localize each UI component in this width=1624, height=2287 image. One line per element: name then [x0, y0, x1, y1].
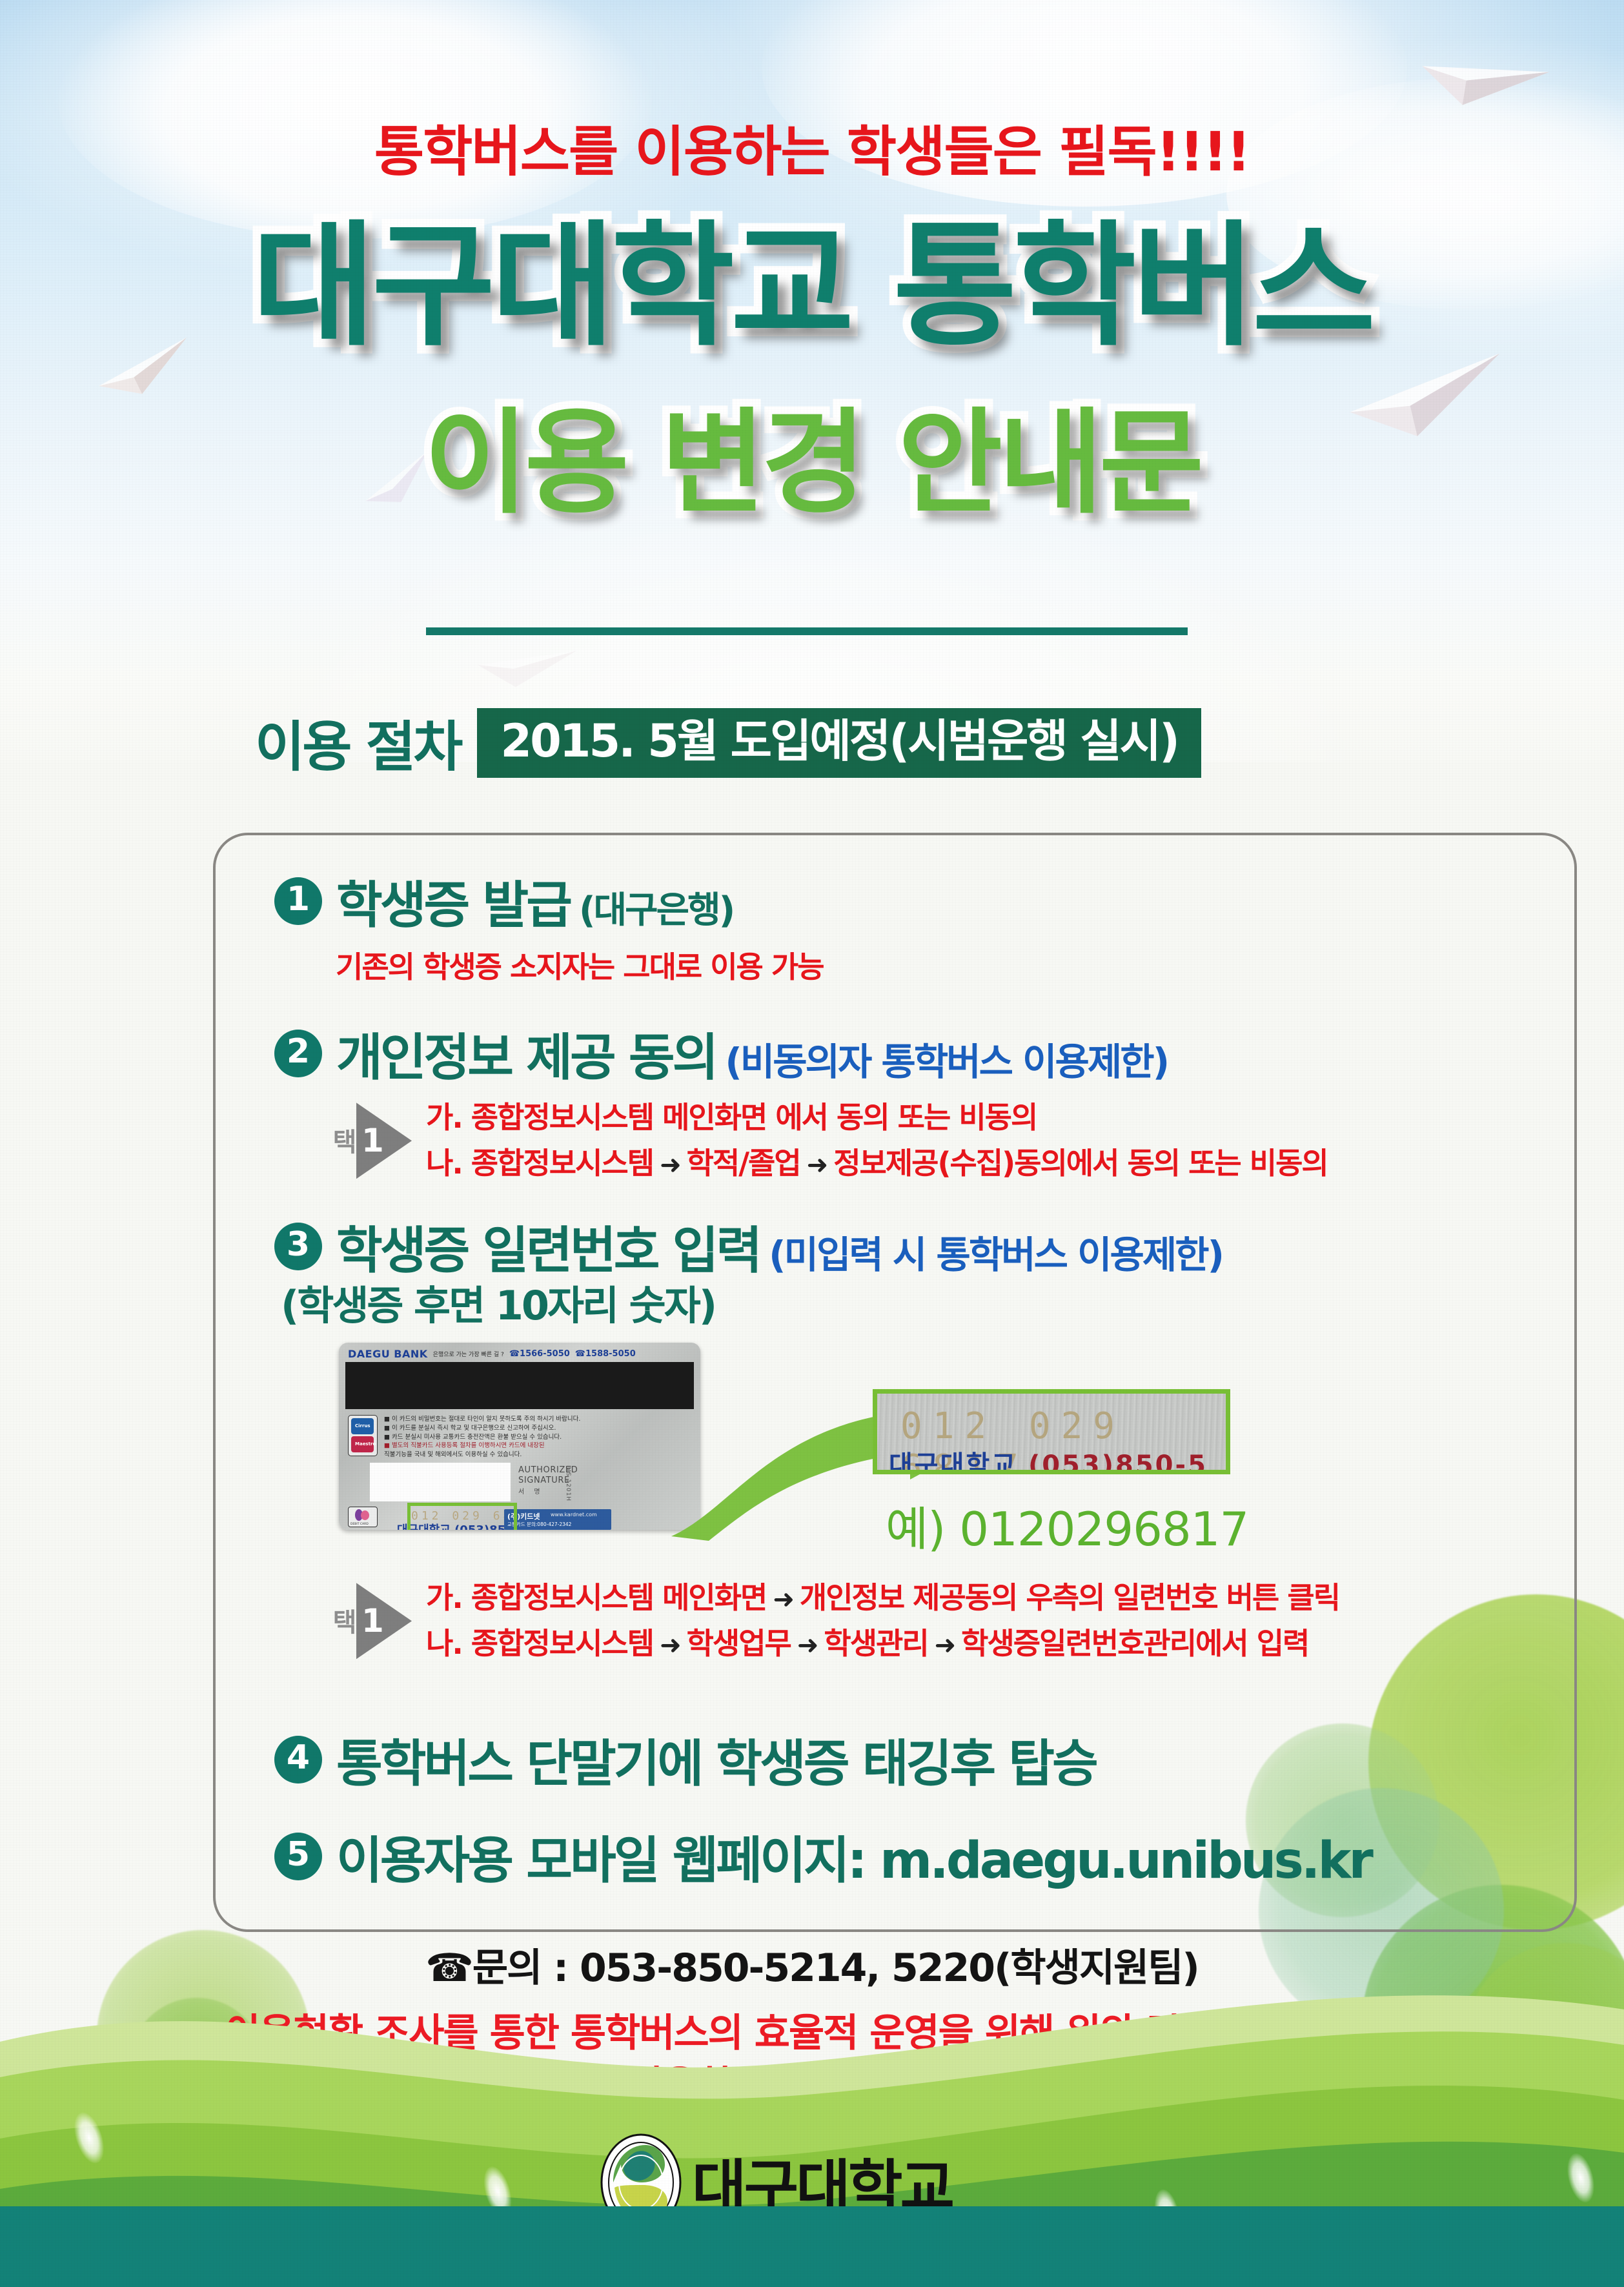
chooser-2-pick-count: 1	[361, 1605, 384, 1637]
section-label: 이용 절차	[255, 704, 460, 782]
step-3-suffix: (미입력 시 통학버스 이용제한)	[769, 1225, 1223, 1279]
poster-title-line1: 대구대학교 통학버스	[0, 219, 1624, 354]
step-2-title: 개인정보 제공 동의	[336, 1017, 716, 1090]
debit-card-label: DEBIT CARD	[350, 1523, 369, 1526]
step-4: 4 통학버스 단말기에 학생증 태깅후 탑승	[274, 1723, 1096, 1796]
step-number-badge: 1	[274, 877, 322, 925]
chooser-1-line-a: 가. 종합정보시스템 메인화면 에서 동의 또는 비동의	[426, 1095, 1328, 1141]
step-5: 5 이용자용 모바일 웹페이지: m.daegu.unibus.kr	[274, 1820, 1371, 1893]
card-bank-name: DAEGU BANK	[348, 1348, 428, 1360]
step-1: 1 학생증 발급 (대구은행)	[274, 865, 733, 937]
card-bis-code: BIS 1201H	[565, 1465, 571, 1501]
step-3: 3 학생증 일련번호 입력 (미입력 시 통학버스 이용제한)	[274, 1210, 1223, 1283]
step-1-note: 기존의 학생증 소지자는 그대로 이용 가능	[336, 944, 824, 986]
arrow-icon: ➜	[653, 1150, 687, 1180]
chooser-2: 택 1 가. 종합정보시스템 메인화면➜개인정보 제공동의 우측의 일련번호 버…	[330, 1575, 1339, 1667]
step-3-title: 학생증 일련번호 입력	[336, 1210, 760, 1283]
step-5-title: 이용자용 모바일 웹페이지: m.daegu.unibus.kr	[336, 1820, 1371, 1893]
step-1-suffix: (대구은행)	[579, 881, 733, 933]
step-2: 2 개인정보 제공 동의 (비동의자 통학버스 이용제한)	[274, 1017, 1168, 1090]
serial-highlight-box	[407, 1503, 517, 1530]
cirrus-maestro-logo: Cirrus Maestro	[348, 1415, 378, 1456]
card-bank-tagline: 은행으로 가는 가장 빠른 길 ?	[433, 1350, 504, 1358]
paper-plane-icon	[476, 640, 576, 695]
section-header: 이용 절차 2015. 5월 도입예정(시범운행 실시)	[255, 704, 1201, 782]
step-number-badge: 4	[274, 1736, 322, 1784]
debit-card-logo: DEBIT CARD	[348, 1507, 378, 1527]
callout-partial-text: 대구대학교 (053)850-5	[889, 1444, 1208, 1474]
title-divider	[426, 627, 1188, 635]
example-serial-text: 예) 0120296817	[886, 1491, 1248, 1559]
kicker-text: 통학버스를 이용하는 학생들은 필독!!!!	[0, 108, 1624, 187]
chooser-2-pick-label: 택	[330, 1609, 354, 1633]
cirrus-label: Cirrus	[355, 1423, 370, 1428]
poster-root: 통학버스를 이용하는 학생들은 필독!!!! 대구대학교 통학버스 이용 변경 …	[0, 0, 1624, 2287]
arrow-icon: ➜	[653, 1631, 687, 1660]
step-2-suffix: (비동의자 통학버스 이용제한)	[725, 1032, 1168, 1086]
step-4-title: 통학버스 단말기에 학생증 태깅후 탑승	[336, 1723, 1096, 1796]
maestro-label: Maestro	[355, 1441, 376, 1447]
bottom-bar	[0, 2206, 1624, 2287]
chooser-1-line-b: 나. 종합정보시스템➜학적/졸업➜정보제공(수집)동의에서 동의 또는 비동의	[426, 1141, 1328, 1186]
step-1-title: 학생증 발급	[336, 865, 570, 937]
arrow-icon: ➜	[800, 1150, 834, 1180]
step-3-subline: (학생증 후면 10자리 숫자)	[281, 1273, 715, 1331]
card-phone-1: ☎1566-5050	[509, 1349, 570, 1359]
signature-panel	[370, 1463, 511, 1501]
chooser-1-pick-count: 1	[361, 1124, 384, 1157]
poster-title-line2: 이용 변경 안내문	[0, 407, 1624, 520]
kardnet-url: www.kardnet.com	[551, 1512, 597, 1518]
chooser-2-triangle-icon: 1	[356, 1583, 412, 1659]
arrow-icon: ➜	[766, 1585, 800, 1614]
kardnet-banner: (주)키드넷 www.kardnet.com 교통카드 문의:080-427-2…	[504, 1509, 611, 1530]
chooser-1-pick-label: 택	[330, 1128, 354, 1153]
serial-zoom-callout: 012 029 6817 대구대학교 (053)850-5	[873, 1389, 1230, 1474]
chooser-2-line-a: 가. 종합정보시스템 메인화면➜개인정보 제공동의 우측의 일련번호 버튼 클릭	[426, 1575, 1339, 1621]
step-number-badge: 2	[274, 1030, 322, 1077]
arrow-icon: ➜	[791, 1631, 824, 1660]
card-phone-2: ☎1588-5050	[575, 1349, 636, 1359]
chooser-1-triangle-icon: 1	[356, 1103, 412, 1179]
chooser-2-line-b: 나. 종합정보시스템➜학생업무➜학생관리➜학생증일련번호관리에서 입력	[426, 1621, 1339, 1667]
step-number-badge: 3	[274, 1223, 322, 1270]
step-number-badge: 5	[274, 1833, 322, 1880]
chooser-1: 택 1 가. 종합정보시스템 메인화면 에서 동의 또는 비동의 나. 종합정보…	[330, 1095, 1328, 1187]
arrow-icon: ➜	[928, 1631, 962, 1660]
section-date-badge: 2015. 5월 도입예정(시범운행 실시)	[477, 708, 1201, 778]
